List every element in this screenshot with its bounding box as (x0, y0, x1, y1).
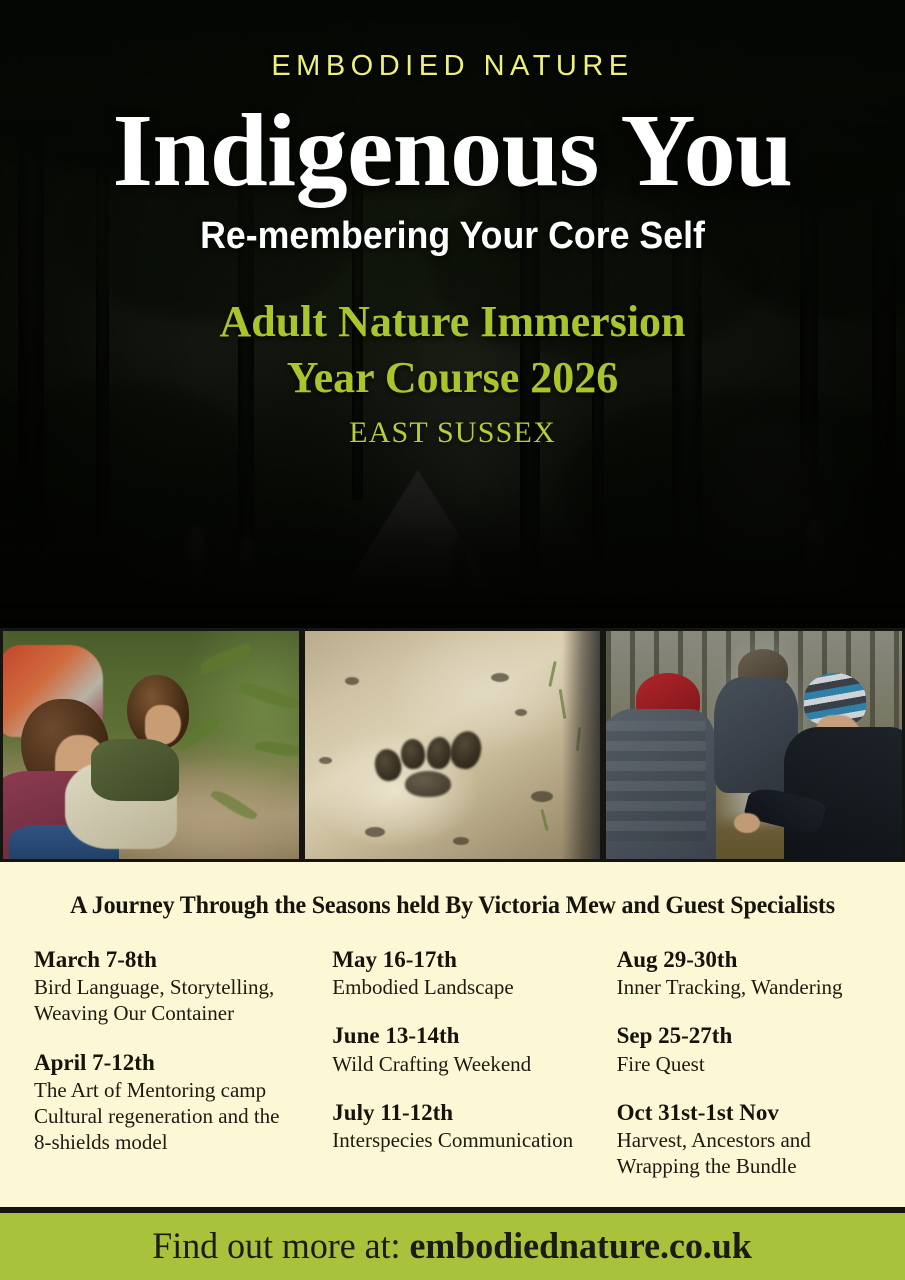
entry-date: Aug 29-30th (617, 946, 861, 973)
course-name-line-2: Year Course 2026 (0, 350, 905, 406)
schedule-entry: Oct 31st-1st Nov Harvest, Ancestors and … (617, 1099, 861, 1180)
photo-strip (0, 628, 905, 862)
schedule-entry: June 13-14th Wild Crafting Weekend (332, 1022, 580, 1076)
eyebrow-label: EMBODIED NATURE (0, 50, 905, 83)
photo-two-women-examining-ground (0, 628, 302, 862)
schedule-columns: March 7-8th Bird Language, Storytelling,… (0, 946, 905, 1179)
entry-date: April 7-12th (34, 1049, 300, 1076)
course-region: EAST SUSSEX (0, 416, 905, 450)
schedule-entry: Aug 29-30th Inner Tracking, Wandering (617, 946, 861, 1000)
schedule-entry: May 16-17th Embodied Landscape (332, 946, 580, 1000)
entry-description: The Art of Mentoring camp Cultural regen… (34, 1077, 300, 1156)
schedule-column-1: March 7-8th Bird Language, Storytelling,… (34, 946, 314, 1179)
poster: EMBODIED NATURE Indigenous You Re-member… (0, 0, 905, 1280)
entry-date: June 13-14th (332, 1022, 580, 1049)
photo-group-making-fire (603, 628, 905, 862)
entry-date: May 16-17th (332, 946, 580, 973)
footer-callout: Find out more at: embodiednature.co.uk (153, 1225, 753, 1268)
entry-date: March 7-8th (34, 946, 300, 973)
schedule-column-3: Aug 29-30th Inner Tracking, Wandering Se… (595, 946, 875, 1179)
entry-description: Fire Quest (617, 1051, 861, 1077)
entry-date: Oct 31st-1st Nov (617, 1099, 861, 1126)
schedule-entry: March 7-8th Bird Language, Storytelling,… (34, 946, 300, 1027)
schedule-panel: A Journey Through the Seasons held By Vi… (0, 862, 905, 1210)
entry-date: Sep 25-27th (617, 1022, 861, 1049)
schedule-column-2: May 16-17th Embodied Landscape June 13-1… (314, 946, 594, 1179)
footer-bar: Find out more at: embodiednature.co.uk (0, 1213, 905, 1280)
hero-section: EMBODIED NATURE Indigenous You Re-member… (0, 0, 905, 628)
entry-description: Bird Language, Storytelling, Weaving Our… (34, 974, 300, 1027)
entry-description: Wild Crafting Weekend (332, 1051, 580, 1077)
entry-description: Embodied Landscape (332, 974, 580, 1000)
entry-date: July 11-12th (332, 1099, 580, 1126)
schedule-heading: A Journey Through the Seasons held By Vi… (18, 892, 887, 920)
footer-lead-text: Find out more at: (153, 1226, 410, 1267)
schedule-entry: July 11-12th Interspecies Communication (332, 1099, 580, 1153)
page-subtitle: Re-membering Your Core Self (27, 215, 878, 258)
entry-description: Harvest, Ancestors and Wrapping the Bund… (617, 1127, 861, 1180)
course-name-line-1: Adult Nature Immersion (0, 294, 905, 350)
website-url[interactable]: embodiednature.co.uk (410, 1226, 752, 1267)
entry-description: Inner Tracking, Wandering (617, 974, 861, 1000)
photo-animal-tracks-in-mud (302, 628, 603, 862)
page-title: Indigenous You (0, 99, 905, 203)
schedule-entry: Sep 25-27th Fire Quest (617, 1022, 861, 1076)
course-name-block: Adult Nature Immersion Year Course 2026 … (0, 294, 905, 450)
schedule-entry: April 7-12th The Art of Mentoring camp C… (34, 1049, 300, 1156)
entry-description: Interspecies Communication (332, 1127, 580, 1153)
